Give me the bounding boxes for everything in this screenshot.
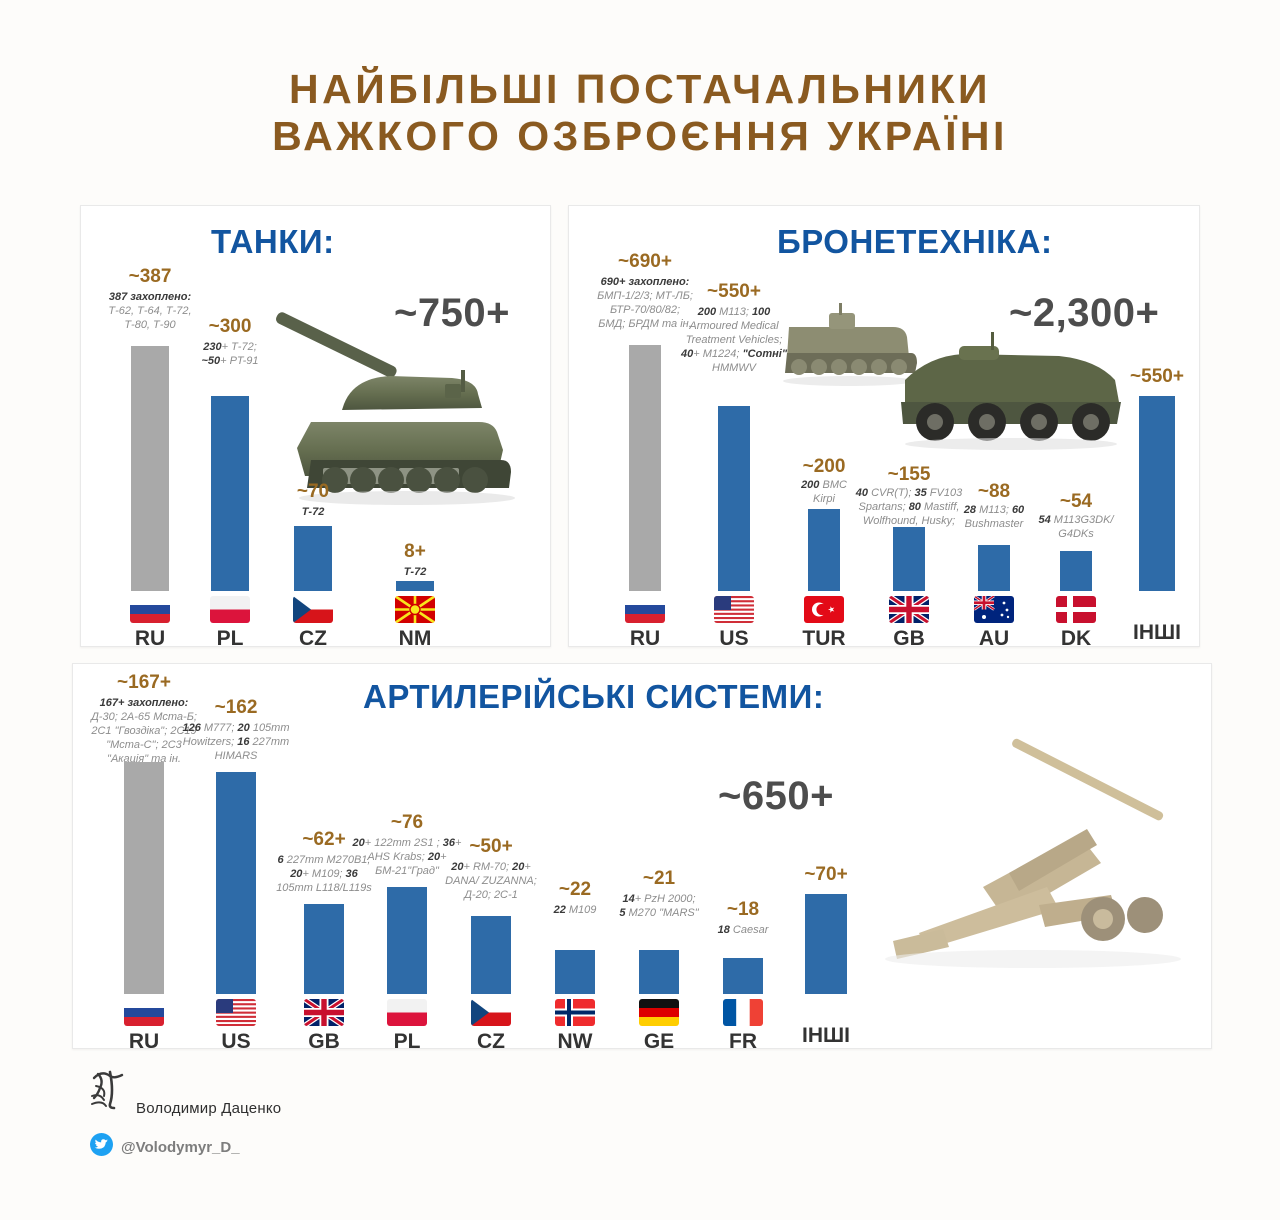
m777-howitzer-photo [863,719,1198,989]
bar-armor-us [718,406,750,591]
bar-arty-ru [124,762,164,994]
bar-value-armor-other: ~550+ [1130,366,1184,388]
bar-detail-arty-us: 126 M777; 20 105mmHowitzers; 16 227mmHIM… [154,721,318,763]
flag-fr-arty [723,999,763,1026]
bar-group-armor-us: ~550+ 200 М113; 100Armoured MedicalTreat… [694,281,774,591]
twitter-row[interactable]: @Volodymyr_D_ [90,1133,281,1161]
bar-value-arty-nw: ~22 [559,879,591,901]
flag-ru-armor [625,596,665,623]
bar-detail-tanks-nm: Т-72 [360,565,470,579]
bar-armor-gb [893,527,925,591]
bar-armor-dk [1060,551,1092,591]
bar-group-tanks-pl: ~300 230+ Т-72;~50+ PT-91 [186,316,274,591]
bar-label-arty-gb: GB [308,1030,340,1054]
bar-arty-gb [304,904,344,994]
bar-label-armor-us: US [719,627,748,651]
signature-row: Володимир Даценко [86,1068,281,1119]
bar-label-tanks-nm: NM [399,627,432,651]
bar-value-arty-cz: ~50+ [469,836,512,858]
bar-label-armor-gb: GB [893,627,925,651]
bar-arty-other [805,894,847,994]
flag-mk-tanks [395,596,435,623]
bar-value-tanks-pl: ~300 [209,316,252,338]
bar-label-tanks-cz: CZ [299,627,327,651]
bar-arty-pl [387,887,427,994]
bar-value-arty-us: ~162 [215,697,258,719]
bar-value-armor-dk: ~54 [1060,491,1092,513]
panel-armored-vehicles: БРОНЕТЕХНІКА: ~2,300+ [568,205,1200,647]
panel-total-artillery: ~650+ [718,774,834,819]
bar-tanks-cz [294,526,332,591]
twitter-bird-icon[interactable] [90,1133,113,1161]
bar-value-armor-ru: ~690+ [618,251,672,273]
panel-title-tanks: ТАНКИ: [211,223,335,261]
bar-group-armor-ru: ~690+ 690+ захоплено:БМП-1/2/3; МТ-ЛБ;БТ… [605,251,685,591]
flag-ru-arty [124,999,164,1026]
bar-label-arty-us: US [221,1030,250,1054]
bar-value-armor-us: ~550+ [707,281,761,303]
bar-group-tanks-ru: ~387 387 захоплено:Т-62, Т-64, Т-72,Т-80… [106,266,194,591]
bar-label-armor-other: ІНШІ [1133,621,1181,645]
bar-value-armor-au: ~88 [978,481,1010,503]
page-title: НАЙБІЛЬШІ ПОСТАЧАЛЬНИКИ ВАЖКОГО ОЗБРОЄНН… [0,66,1280,160]
infographic-root: НАЙБІЛЬШІ ПОСТАЧАЛЬНИКИ ВАЖКОГО ОЗБРОЄНН… [0,0,1280,1220]
bar-label-arty-fr: FR [729,1030,757,1054]
btr-80-apc-photo [895,326,1127,456]
bar-value-tanks-nm: 8+ [404,541,426,563]
flag-no-arty [555,999,595,1026]
bar-label-armor-au: AU [979,627,1009,651]
bar-group-arty-other: ~70+ [773,864,879,994]
bar-value-armor-tur: ~200 [803,456,846,478]
bar-detail-tanks-pl: 230+ Т-72;~50+ PT-91 [171,340,289,368]
bar-value-armor-gb: ~155 [888,464,931,486]
flag-cz-tanks [293,596,333,623]
footer: Володимир Даценко @Volodymyr_D_ [86,1068,281,1161]
page-title-line2: ВАЖКОГО ОЗБРОЄННЯ УКРАЇНІ [0,113,1280,160]
panel-title-armor: БРОНЕТЕХНІКА: [777,223,1052,261]
flag-us-armor [714,596,754,623]
flag-de-arty [639,999,679,1026]
signature-mark [86,1068,130,1119]
page-title-line1: НАЙБІЛЬШІ ПОСТАЧАЛЬНИКИ [289,66,991,112]
bar-group-armor-dk: ~54 54 M113G3DK/G4DKs [1036,491,1116,591]
bar-value-arty-ge: ~21 [643,868,675,890]
flag-gb-arty [304,999,344,1026]
flag-us-arty [216,999,256,1026]
bar-armor-other [1139,396,1175,591]
bar-armor-au [978,545,1010,591]
bar-label-arty-ru: RU [129,1030,159,1054]
panel-total-tanks: ~750+ [394,291,510,336]
bar-label-arty-nw: NW [558,1030,593,1054]
panel-total-armor: ~2,300+ [1009,291,1159,336]
bar-value-arty-fr: ~18 [727,899,759,921]
author-name: Володимир Даценко [136,1100,281,1119]
flag-tr-armor [804,596,844,623]
bar-tanks-ru [131,346,169,591]
bar-value-tanks-ru: ~387 [129,266,172,288]
bar-value-tanks-cz: ~70 [297,481,329,503]
bar-arty-cz [471,916,511,994]
bar-detail-armor-dk: 54 M113G3DK/G4DKs [1021,513,1131,541]
flag-dk-armor [1056,596,1096,623]
panel-tanks: ТАНКИ: ~750+ [80,205,551,647]
flag-pl-tanks [210,596,250,623]
flag-pl-arty [387,999,427,1026]
bar-label-arty-pl: PL [394,1030,421,1054]
bar-group-tanks-cz: ~70 Т-72 [269,481,357,591]
flag-cz-arty [471,999,511,1026]
panel-title-artillery: АРТИЛЕРІЙСЬКІ СИСТЕМИ: [363,678,824,716]
bar-group-armor-other: ~550+ [1117,366,1197,591]
bar-label-arty-ge: GE [644,1030,674,1054]
bar-value-arty-other: ~70+ [804,864,847,886]
bar-arty-ge [639,950,679,994]
bar-group-tanks-nm: 8+ Т-72 [371,541,459,591]
bar-label-arty-other: ІНШІ [802,1024,850,1048]
bar-arty-fr [723,958,763,994]
bar-group-armor-gb: ~155 40 CVR(T); 35 FV103Spartans; 80 Mas… [869,464,949,591]
bar-label-armor-ru: RU [630,627,660,651]
bar-value-arty-pl: ~76 [391,812,423,834]
bar-detail-tanks-cz: Т-72 [258,505,368,519]
bar-value-arty-ru: ~167+ [117,672,171,694]
twitter-handle[interactable]: @Volodymyr_D_ [121,1139,240,1156]
bar-arty-nw [555,950,595,994]
bar-label-armor-tur: TUR [802,627,845,651]
bar-label-arty-cz: CZ [477,1030,505,1054]
bar-label-armor-dk: DK [1061,627,1091,651]
panel-artillery: АРТИЛЕРІЙСЬКІ СИСТЕМИ: ~650+ ~167+ 167+ … [72,663,1212,1049]
bar-detail-armor-us: 200 М113; 100Armoured MedicalTreatment V… [656,305,812,375]
bar-tanks-pl [211,396,249,591]
bar-armor-ru [629,345,661,591]
flag-gb-armor [889,596,929,623]
flag-au-armor [974,596,1014,623]
bar-label-tanks-pl: PL [217,627,244,651]
bar-label-tanks-ru: RU [135,627,165,651]
bar-tanks-nm [396,581,434,591]
flag-ru-tanks [130,596,170,623]
